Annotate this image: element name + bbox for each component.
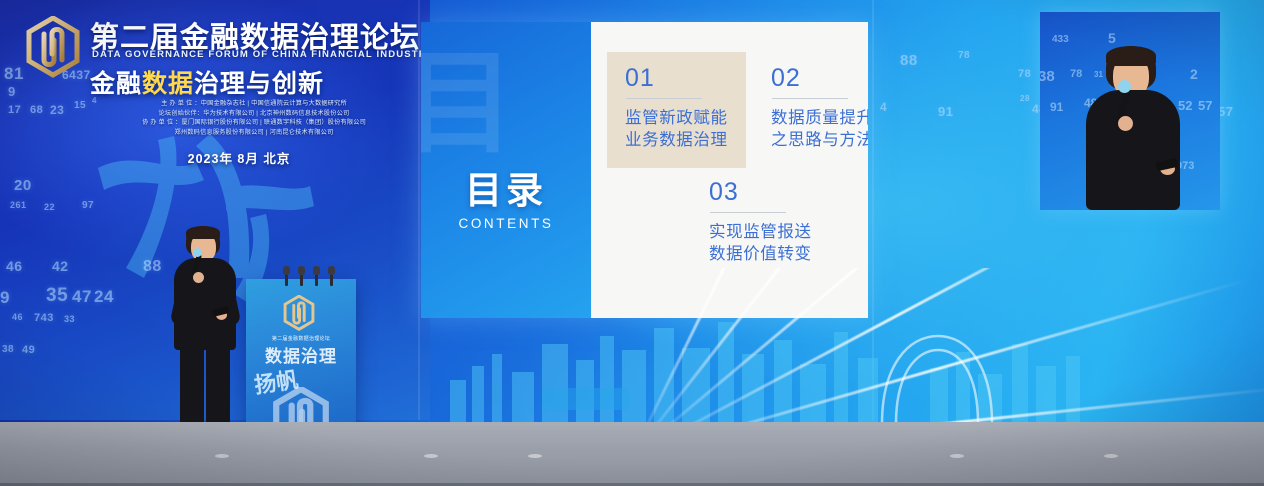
microphone-head-icon [328,266,335,275]
stage-floor [0,422,1264,486]
podium-hexagon-logo-icon [282,295,316,331]
agenda-item-line2: 数据价值转变 [709,244,812,266]
inset-bg-number: 91 [1050,100,1063,114]
organizer-line: 协 办 单 位 ：厦门国际银行股份有限公司 | 联通数字科技（集团）股份有限公司 [104,118,404,128]
floor-marker [950,454,964,458]
organizer-line: 论坛创始伙伴：华为技术有限公司 | 北京神州数码信息技术股份公司 [104,109,404,119]
agenda-item-line1: 监管新政赋能 [625,108,728,130]
hexagon-forum-logo-icon [24,16,82,78]
floor-marker [1104,454,1118,458]
floor-marker [424,454,438,458]
microphone-head-icon [283,266,290,275]
projected-agenda-slide: 目 目录 CONTENTS 01 监管新政赋能 业务数据治理 02 数据质量提升… [421,22,868,318]
banner-date-location: 2023年 8月 北京 [144,148,334,167]
inset-bg-number: 433 [1052,34,1069,45]
banner-theme-highlight: 数据 [142,70,194,98]
contents-heading-cn: 目录 [421,172,591,209]
organizer-line: 主 办 单 位 ：中国金融杂志社 | 中国信通院云计算与大数据研究所 [104,99,404,109]
agenda-item-rule [772,98,848,99]
forum-banner: 第二届金融数据治理论坛 DATA GOVERNANCE FORUM OF CHI… [14,6,414,171]
organizer-line: 郑州数码信息服务股份有限公司 | 河南昆仑技术有限公司 [104,128,404,138]
agenda-item-02: 02 数据质量提升 之思路与方法 [753,52,868,168]
slide-watermark: 目 [421,48,515,160]
slide-contents-heading: 目录 CONTENTS [421,172,591,231]
agenda-item-rule [626,98,702,99]
agenda-item-line1: 数据质量提升 [771,108,868,130]
inset-bg-number: 52 [1178,98,1192,113]
conference-stage-photo: 81 6437 9 20 17 68 23 15 4 261 22 97 46 … [0,0,1264,486]
agenda-item-03: 03 实现监管报送 数据价值转变 [691,180,830,266]
agenda-item-number: 03 [709,180,812,205]
agenda-item-number: 01 [625,66,728,91]
agenda-item-rule [710,212,786,213]
agenda-item-line2: 之思路与方法 [771,130,868,152]
microphone-head-icon [313,266,320,275]
banner-theme-prefix: 金融 [90,70,142,98]
banner-theme-suffix: 治理与创新 [194,70,324,98]
banner-theme: 金融数据治理与创新 [90,64,324,100]
inset-bg-number: 2 [1190,66,1198,82]
inset-bg-number: 5 [1108,30,1116,46]
agenda-item-number: 02 [771,66,868,91]
inset-bg-number: 38 [1040,68,1055,85]
agenda-item-line2: 业务数据治理 [625,130,728,152]
inset-bg-number: 78 [1070,68,1082,80]
led-panel-seam [418,0,420,420]
agenda-item-line1: 实现监管报送 [709,222,812,244]
banner-subtitle-en: DATA GOVERNANCE FORUM OF CHINA FINANCIAL… [92,49,434,60]
contents-heading-en: CONTENTS [421,216,591,231]
agenda-item-01: 01 监管新政赋能 业务数据治理 [607,52,746,168]
speaker-closeup-video: 433 5 38 78 31 2 91 48 52 57 973 [1040,12,1220,210]
microphone-head-icon [298,266,305,275]
banner-organizers: 主 办 单 位 ：中国金融杂志社 | 中国信通院云计算与大数据研究所 论坛创始伙… [104,99,404,137]
led-panel-seam [872,0,874,420]
slide-right-panel: 01 监管新政赋能 业务数据治理 02 数据质量提升 之思路与方法 03 实现监… [591,22,868,318]
inset-bg-number: 57 [1198,98,1212,113]
inset-bg-number: 31 [1094,70,1103,79]
slide-left-panel: 目 目录 CONTENTS [421,22,591,318]
floor-marker [215,454,229,458]
floor-marker [528,454,542,458]
